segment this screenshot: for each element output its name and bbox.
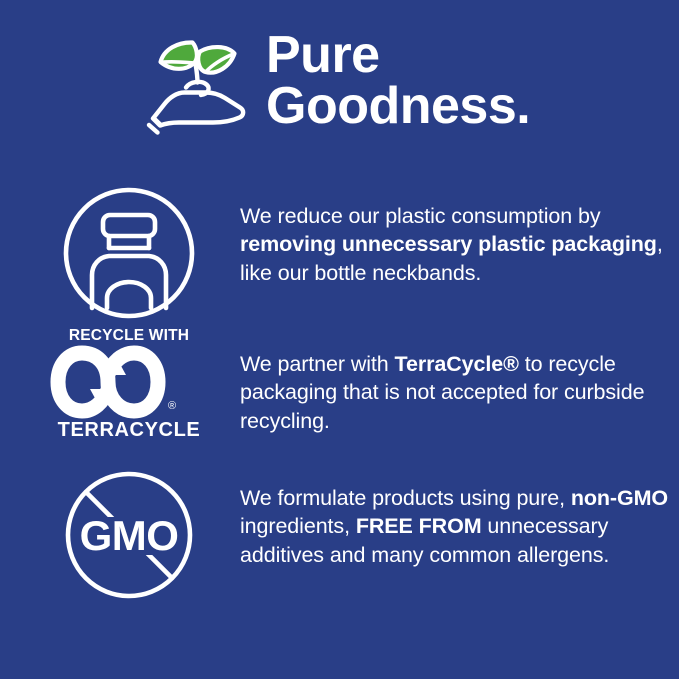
no-gmo-icon: GMO [56, 470, 202, 604]
pure-goodness-infographic: Pure Goodness. We redu [0, 0, 679, 679]
terracycle-top-label: RECYCLE WITH [69, 328, 189, 344]
claim-row-plastic-reduction: We reduce our plastic consumption by rem… [0, 186, 679, 328]
registered-mark: ® [168, 400, 176, 412]
brand-lockup: Pure Goodness. [148, 28, 530, 136]
terracycle-bottom-label: TERRACYCLE [58, 420, 201, 440]
terracycle-logo-icon: RECYCLE WITH ® TERRACYCLE [56, 328, 202, 440]
claim-text-plastic-reduction: We reduce our plastic consumption by rem… [202, 186, 679, 287]
page-title: Pure Goodness. [266, 30, 530, 132]
bottle-neckband-icon [56, 186, 202, 320]
claim-row-terracycle: RECYCLE WITH ® TERRACYCLE We partner wit… [0, 328, 679, 470]
claim-row-non-gmo: GMO We formulate products using pure, no… [0, 470, 679, 612]
terracycle-badge: RECYCLE WITH ® TERRACYCLE [56, 328, 202, 440]
claim-text-non-gmo: We formulate products using pure, non-GM… [202, 470, 679, 569]
infinity-recycle-loop-icon: ® [56, 347, 202, 417]
hand-holding-sprout-icon [148, 32, 252, 136]
claim-text-terracycle: We partner with TerraCycle® to recycle p… [202, 328, 679, 435]
gmo-label: GMO [80, 512, 179, 559]
claims-list: We reduce our plastic consumption by rem… [0, 186, 679, 612]
